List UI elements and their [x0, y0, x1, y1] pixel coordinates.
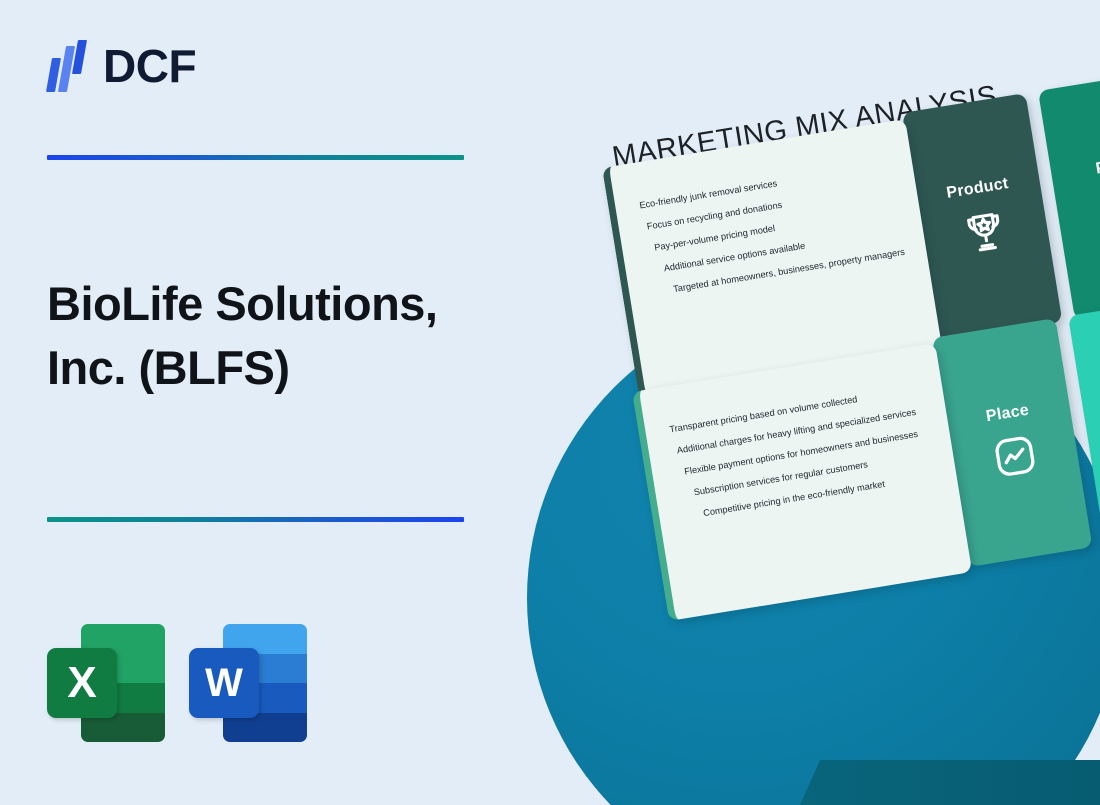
cover-page: DCF BioLife Solutions, Inc. (BLFS) X W M… — [0, 0, 1100, 805]
word-badge-letter: W — [189, 648, 259, 718]
card-tab-place-label: Place — [985, 402, 1031, 427]
page-title: BioLife Solutions, Inc. (BLFS) — [47, 272, 527, 401]
trophy-icon — [957, 204, 1012, 259]
card-place-body: Transparent pricing based on volume coll… — [632, 343, 972, 621]
excel-badge-letter: X — [47, 648, 117, 718]
download-formats: X W — [47, 624, 307, 742]
excel-file-icon[interactable]: X — [47, 624, 165, 742]
bar-chart-logo-icon — [47, 40, 89, 92]
divider-bottom — [47, 517, 464, 522]
marketing-mix-infographic: MARKETING MIX ANALYSIS Product Eco-frien… — [560, 0, 1100, 805]
brand-logo-text: DCF — [103, 43, 196, 89]
left-column: DCF BioLife Solutions, Inc. (BLFS) X W — [47, 0, 507, 805]
link-chain-icon — [1095, 181, 1100, 236]
pulse-square-icon — [987, 429, 1042, 484]
brand-logo[interactable]: DCF — [47, 40, 196, 92]
divider-top — [47, 155, 464, 160]
card-tab-product-label: Product — [945, 175, 1010, 203]
list-item: Targeted at homeowners, businesses, prop… — [673, 247, 910, 295]
list-item: Competitive pricing in the eco-friendly … — [703, 471, 940, 519]
word-file-icon[interactable]: W — [189, 624, 307, 742]
card-tab-price-label: Price — [1095, 154, 1100, 178]
